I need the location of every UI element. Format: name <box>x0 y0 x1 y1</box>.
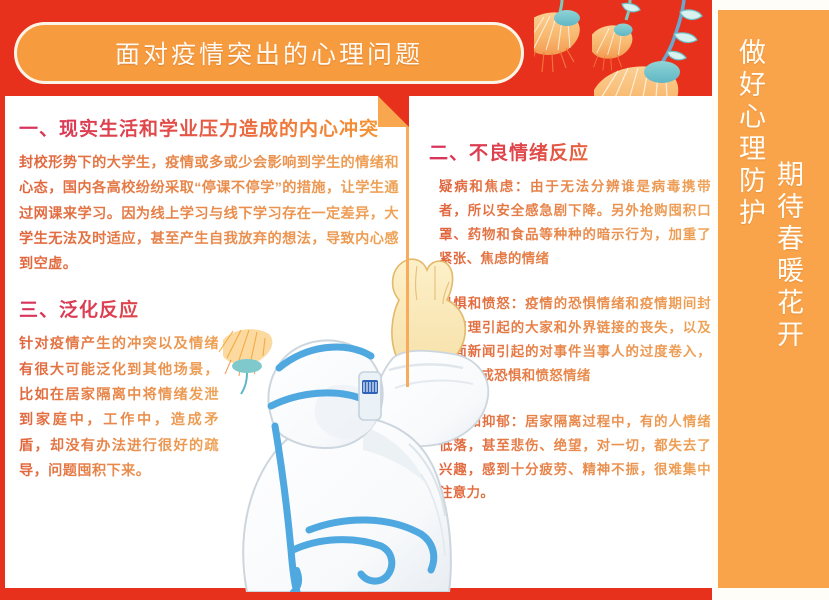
left-column: 一、现实生活和学业压力造成的内心冲突 封校形势下的大学生，疫情或多或少会影响到学… <box>5 96 409 588</box>
section-three-heading: 三、泛化反应 <box>19 295 395 322</box>
section-one-heading: 一、现实生活和学业压力造成的内心冲突 <box>19 114 395 141</box>
section-two-heading: 二、不良情绪反应 <box>429 138 703 165</box>
section-three-body: 针对疫情产生的冲突以及情绪有很大可能泛化到其他场景，比如在居家隔离中将情绪发泄到… <box>19 332 219 484</box>
section-two-item-fear-anger: 恐惧和愤怒：疫情的恐惧情绪和疫情期间封控管理引起的大家和外界链接的丧失，以及负面… <box>439 292 711 387</box>
poster-canvas: 面对疫情突出的心理问题 一、现实生活和学业压力造成的内心冲突 封校形势下的大学生… <box>0 0 829 600</box>
corner-notch-decoration <box>378 96 409 127</box>
sidebar-slogan-primary: 做好心理防护 <box>736 38 763 230</box>
section-two-item-anxiety: 疑病和焦虑：由于无法分辨谁是病毒携带者，所以安全感急剧下降。另外抢购囤积口罩、药… <box>439 175 711 270</box>
content-card: 一、现实生活和学业压力造成的内心冲突 封校形势下的大学生，疫情或多或少会影响到学… <box>5 96 715 588</box>
right-column: 二、不良情绪反应 疑病和焦虑：由于无法分辨谁是病毒携带者，所以安全感急剧下降。另… <box>409 96 715 588</box>
sidebar-slogan-secondary: 期待春暖花开 <box>774 160 801 352</box>
page-title: 面对疫情突出的心理问题 <box>115 35 423 71</box>
section-one-body: 封校形势下的大学生，疫情或多或少会影响到学生的情绪和心态，国内各高校纷纷采取“停… <box>19 151 399 277</box>
poster-title-banner: 面对疫情突出的心理问题 <box>14 22 524 84</box>
column-divider <box>406 127 409 387</box>
sidebar-panel: 做好心理防护 期待春暖花开 <box>712 0 829 600</box>
sidebar-orange-block: 做好心理防护 期待春暖花开 <box>718 10 829 588</box>
section-two-item-sadness-depression: 悲伤和抑郁：居家隔离过程中，有的人情绪低落，甚至悲伤、绝望，对一切，都失去了兴趣… <box>439 410 711 505</box>
